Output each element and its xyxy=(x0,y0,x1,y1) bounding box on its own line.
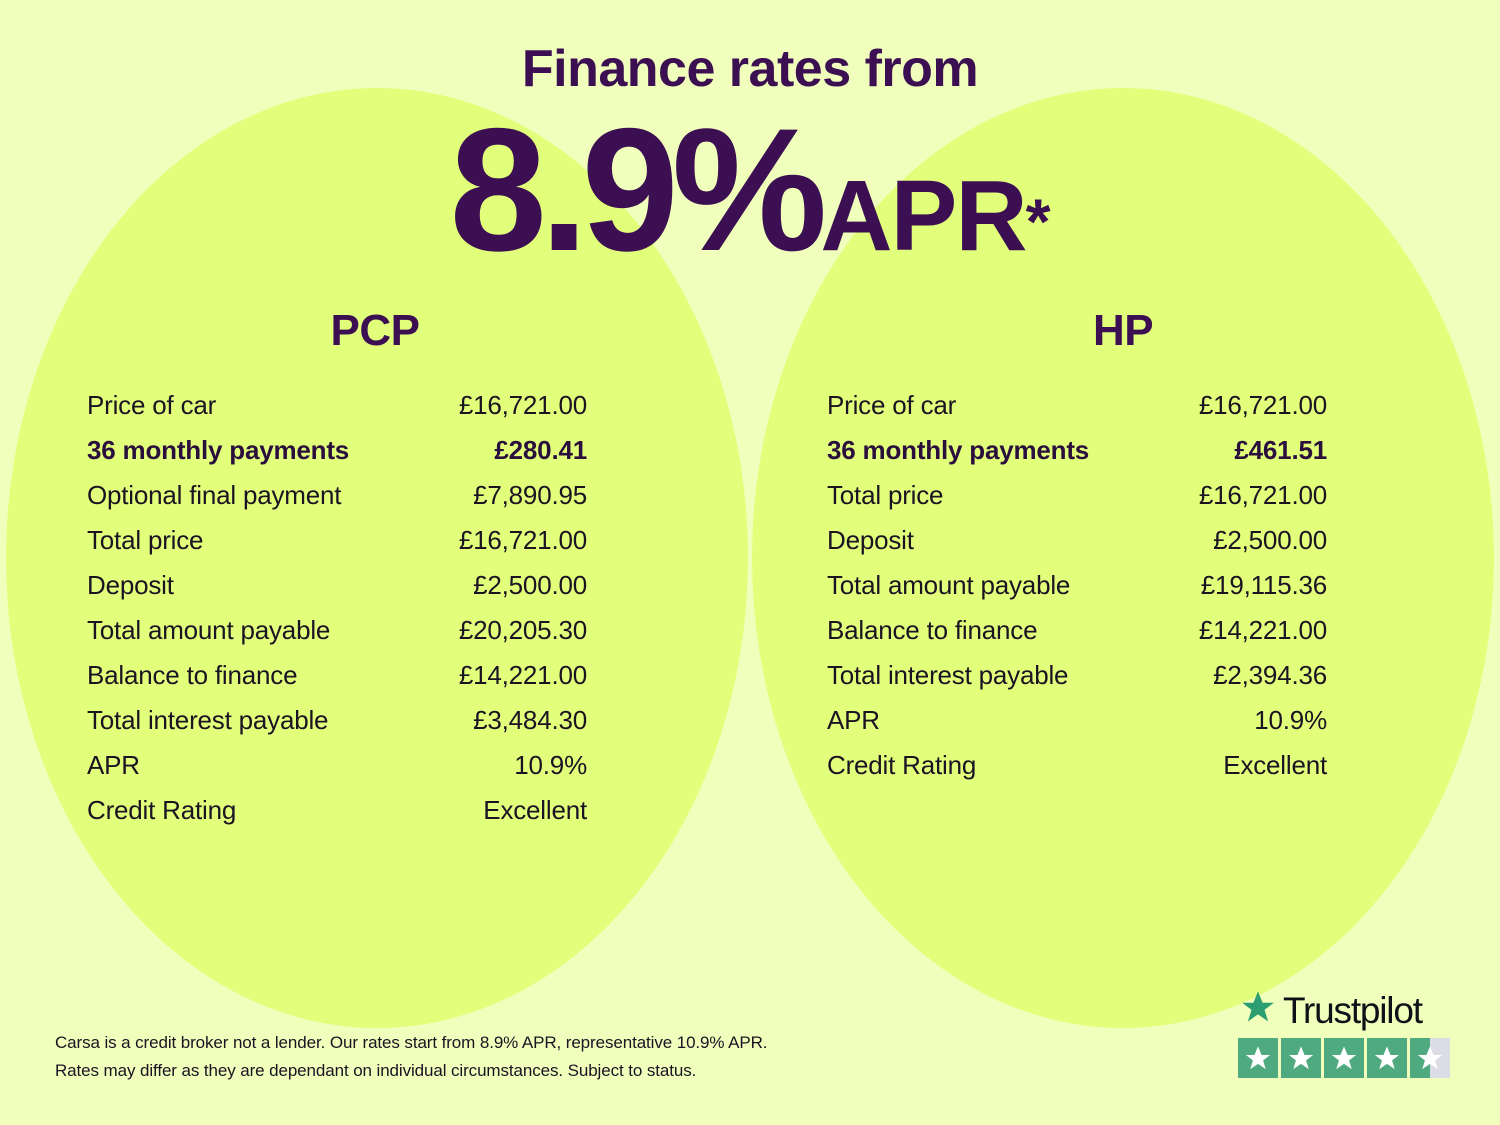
table-row: Price of car£16,721.00 xyxy=(827,390,1327,435)
row-value: 10.9% xyxy=(514,750,587,781)
table-row: Total price£16,721.00 xyxy=(827,480,1327,525)
row-value: £2,500.00 xyxy=(473,570,587,601)
page-title: Finance rates from xyxy=(0,0,1500,95)
row-label: Price of car xyxy=(827,390,956,421)
row-label: Total amount payable xyxy=(827,570,1070,601)
hero-rate-value: 8.9% xyxy=(450,93,821,288)
table-row: Total interest payable£3,484.30 xyxy=(87,705,587,750)
row-label: Balance to finance xyxy=(827,615,1037,646)
row-label: Total interest payable xyxy=(87,705,328,736)
row-value: £2,500.00 xyxy=(1213,525,1327,556)
table-row: APR10.9% xyxy=(87,750,587,795)
table-row: Credit RatingExcellent xyxy=(827,750,1327,795)
plan-title-pcp: PCP xyxy=(60,306,690,356)
disclaimer-line-1: Carsa is a credit broker not a lender. O… xyxy=(55,1029,767,1057)
poster-content: Finance rates from 8.9%APR* PCP Price of… xyxy=(0,0,1500,1125)
row-value: £280.41 xyxy=(494,435,587,466)
hp-rows: Price of car£16,721.00 36 monthly paymen… xyxy=(827,390,1327,795)
row-value: £16,721.00 xyxy=(459,390,587,421)
row-label: Deposit xyxy=(827,525,914,556)
table-row: APR10.9% xyxy=(827,705,1327,750)
trustpilot-wordmark-text: Trustpilot xyxy=(1283,992,1422,1029)
plan-title-hp: HP xyxy=(810,306,1440,356)
row-label: APR xyxy=(87,750,140,781)
row-label: 36 monthly payments xyxy=(827,435,1089,466)
finance-table-pcp: PCP Price of car£16,721.00 36 monthly pa… xyxy=(0,306,750,840)
rating-star-2-icon xyxy=(1281,1038,1321,1078)
trustpilot-rating: Trustpilot xyxy=(1238,989,1450,1078)
row-label: APR xyxy=(827,705,880,736)
row-value: Excellent xyxy=(1223,750,1327,781)
table-row: Balance to finance£14,221.00 xyxy=(87,660,587,705)
row-value: £2,394.36 xyxy=(1213,660,1327,691)
table-row: Deposit£2,500.00 xyxy=(87,570,587,615)
row-value: £7,890.95 xyxy=(473,480,587,511)
row-value: 10.9% xyxy=(1254,705,1327,736)
hero-rate-unit: APR xyxy=(820,160,1025,272)
row-value: £20,205.30 xyxy=(459,615,587,646)
rating-star-1-icon xyxy=(1238,1038,1278,1078)
row-value: £16,721.00 xyxy=(1199,390,1327,421)
row-label: Total amount payable xyxy=(87,615,330,646)
disclaimer: Carsa is a credit broker not a lender. O… xyxy=(55,1029,767,1085)
row-value: £461.51 xyxy=(1234,435,1327,466)
row-label: Price of car xyxy=(87,390,216,421)
table-row: 36 monthly payments£461.51 xyxy=(827,435,1327,480)
row-value: £14,221.00 xyxy=(459,660,587,691)
disclaimer-line-2: Rates may differ as they are dependant o… xyxy=(55,1057,767,1085)
row-value: £3,484.30 xyxy=(473,705,587,736)
table-row: Total amount payable£19,115.36 xyxy=(827,570,1327,615)
row-label: Total price xyxy=(87,525,203,556)
rating-star-4-icon xyxy=(1367,1038,1407,1078)
trustpilot-star-icon xyxy=(1238,989,1278,1032)
row-value: £19,115.36 xyxy=(1201,570,1327,601)
row-value: £16,721.00 xyxy=(459,525,587,556)
finance-table-hp: HP Price of car£16,721.00 36 monthly pay… xyxy=(750,306,1500,840)
row-label: Credit Rating xyxy=(827,750,976,781)
trustpilot-star-rating xyxy=(1238,1038,1450,1078)
table-row: Credit RatingExcellent xyxy=(87,795,587,840)
row-value: £14,221.00 xyxy=(1199,615,1327,646)
row-label: Credit Rating xyxy=(87,795,236,826)
rating-star-3-icon xyxy=(1324,1038,1364,1078)
table-row: 36 monthly payments£280.41 xyxy=(87,435,587,480)
table-row: Total interest payable£2,394.36 xyxy=(827,660,1327,705)
table-row: Deposit£2,500.00 xyxy=(827,525,1327,570)
table-row: Total amount payable£20,205.30 xyxy=(87,615,587,660)
pcp-rows: Price of car£16,721.00 36 monthly paymen… xyxy=(87,390,587,840)
table-row: Price of car£16,721.00 xyxy=(87,390,587,435)
finance-tables: PCP Price of car£16,721.00 36 monthly pa… xyxy=(0,306,1500,840)
row-label: Balance to finance xyxy=(87,660,297,691)
table-row: Balance to finance£14,221.00 xyxy=(827,615,1327,660)
row-label: Deposit xyxy=(87,570,174,601)
trustpilot-logo: Trustpilot xyxy=(1238,989,1450,1031)
table-row: Total price£16,721.00 xyxy=(87,525,587,570)
row-label: Total interest payable xyxy=(827,660,1068,691)
row-label: Total price xyxy=(827,480,943,511)
rating-star-5-half-icon xyxy=(1410,1038,1450,1078)
table-row: Optional final payment£7,890.95 xyxy=(87,480,587,525)
row-value: Excellent xyxy=(483,795,587,826)
hero-rate: 8.9%APR* xyxy=(0,103,1500,278)
row-label: 36 monthly payments xyxy=(87,435,349,466)
hero-asterisk-icon: * xyxy=(1026,186,1051,258)
row-label: Optional final payment xyxy=(87,480,341,511)
row-value: £16,721.00 xyxy=(1199,480,1327,511)
